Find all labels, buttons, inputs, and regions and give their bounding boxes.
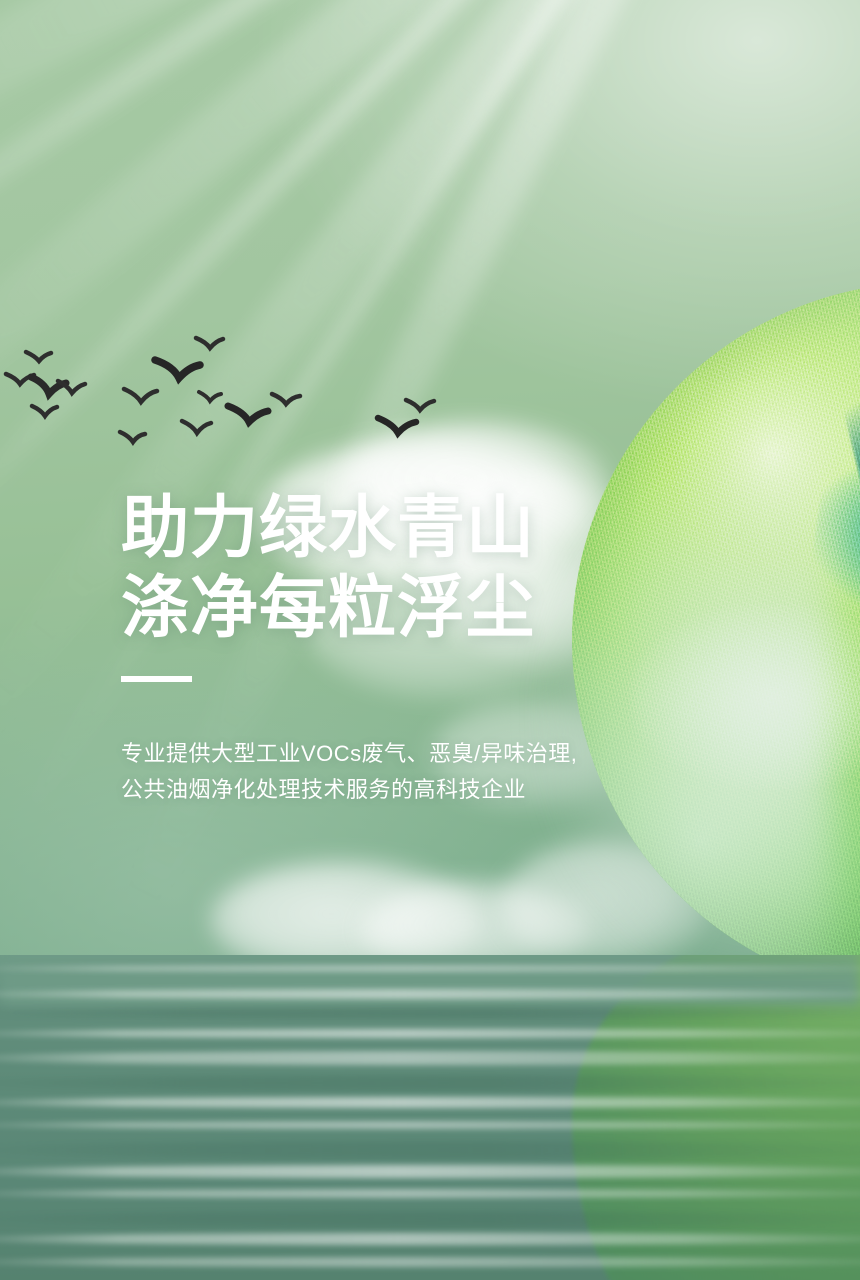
divider-rule [121, 676, 192, 682]
water-wave [0, 1257, 860, 1267]
eco-banner-poster: 助力绿水青山 涤净每粒浮尘 专业提供大型工业VOCs废气、恶臭/异味治理, 公共… [0, 0, 860, 1280]
water-wave [0, 1141, 860, 1159]
subcopy-block: 专业提供大型工业VOCs废气、恶臭/异味治理, 公共油烟净化处理技术服务的高科技… [121, 736, 681, 808]
subcopy-line-1: 专业提供大型工业VOCs废气、恶臭/异味治理, [121, 736, 681, 772]
water-wave [0, 1121, 860, 1129]
water-wave [0, 1165, 860, 1178]
water-wave [0, 1097, 860, 1108]
headline-line-2: 涤净每粒浮尘 [121, 568, 681, 648]
water-wave [0, 989, 860, 999]
copy-block: 助力绿水青山 涤净每粒浮尘 专业提供大型工业VOCs废气、恶臭/异味治理, 公共… [121, 488, 681, 808]
birds-icon [0, 330, 470, 460]
headline-line-1: 助力绿水青山 [121, 488, 681, 568]
water-wave [0, 965, 860, 972]
water-wave [0, 1189, 860, 1198]
water-wave [0, 1233, 860, 1245]
water-wave [0, 1075, 860, 1091]
water-wave [0, 1007, 860, 1019]
birds-flock [0, 330, 470, 460]
water-wave [0, 1029, 860, 1038]
water-wave [0, 1051, 860, 1065]
water-surface [0, 955, 860, 1280]
water-wave [0, 1211, 860, 1227]
subcopy-line-2: 公共油烟净化处理技术服务的高科技企业 [121, 772, 681, 808]
